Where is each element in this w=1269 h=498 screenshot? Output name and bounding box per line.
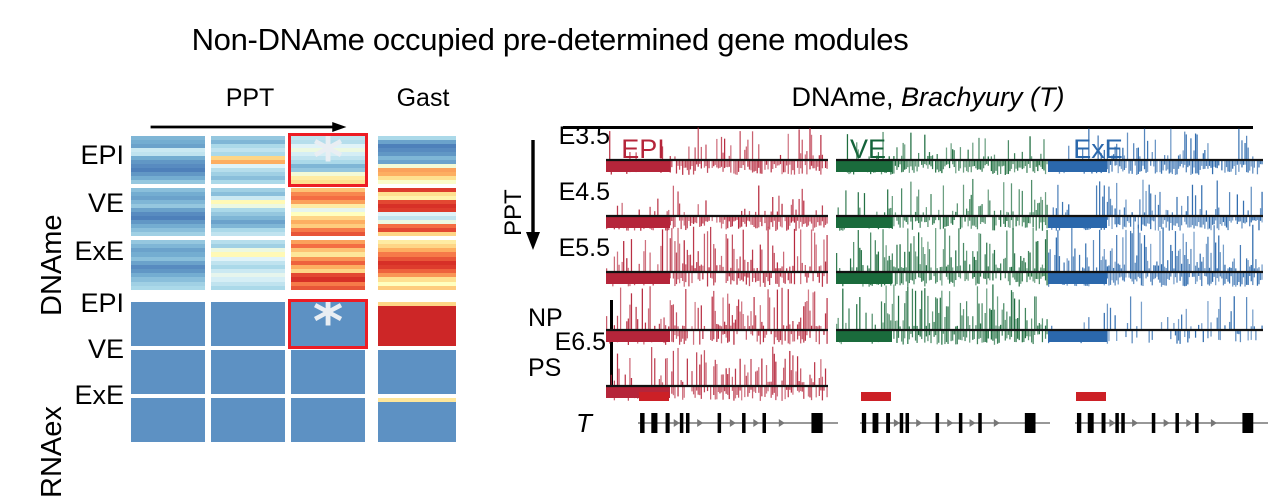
right-panel-title: DNAme, Brachyury (T) xyxy=(598,82,1258,113)
heatmap-cell xyxy=(131,188,205,236)
right-panel-title-plain: DNAme, xyxy=(791,82,901,112)
genome-track xyxy=(836,186,1048,234)
genome-track xyxy=(1048,130,1263,178)
genome-track xyxy=(1048,186,1263,234)
heatmap-row xyxy=(378,390,456,394)
heatmap-cell xyxy=(211,302,285,346)
heatmap-cell xyxy=(131,136,205,184)
heatmap-row xyxy=(378,438,456,442)
heatmap-row xyxy=(211,342,285,346)
heatmap-cell xyxy=(378,188,456,236)
heatmap-row xyxy=(291,286,365,290)
heatmap-row xyxy=(378,286,456,290)
right-panel-title-gene: Brachyury (T) xyxy=(901,82,1065,112)
heatmap-cell xyxy=(131,398,205,442)
heatmap-row xyxy=(291,342,365,346)
dmr-bar xyxy=(861,392,891,401)
heatmap-cell xyxy=(211,188,285,236)
heatmap-row xyxy=(211,286,285,290)
stage-label-ps: PS xyxy=(518,354,620,383)
genome-track xyxy=(606,186,828,234)
track-signal xyxy=(606,186,828,234)
row-label-dname-exe: ExE xyxy=(62,236,124,267)
dmr-bar xyxy=(1076,392,1106,401)
genome-track xyxy=(606,130,828,178)
heatmap-cell: * xyxy=(291,136,365,184)
row-label-rnaex-epi: EPI xyxy=(62,288,124,319)
heatmap-row xyxy=(131,390,205,394)
heatmap-cell xyxy=(131,350,205,394)
column-header-ppt: PPT xyxy=(130,84,370,113)
heatmap-row xyxy=(131,342,205,346)
heatmap-cell xyxy=(291,188,365,236)
track-signal xyxy=(1048,242,1263,290)
track-signal xyxy=(606,130,828,178)
heatmap-row xyxy=(211,390,285,394)
heatmap-panel: PPT Gast DNAme RNAex EPI VE ExE EPI VE E… xyxy=(0,78,480,438)
genome-track xyxy=(836,242,1048,290)
heatmap-row xyxy=(211,180,285,184)
heatmap-cell xyxy=(291,240,365,290)
heatmap-cell xyxy=(378,398,456,442)
gene-exon-intron-icon xyxy=(858,410,1052,436)
track-signal xyxy=(836,300,1048,348)
track-signal xyxy=(606,300,828,348)
heatmap-row xyxy=(131,438,205,442)
genome-track xyxy=(836,130,1048,178)
page-title: Non-DNAme occupied pre-determined gene m… xyxy=(0,22,1100,58)
heatmap-row xyxy=(378,232,456,236)
genome-track xyxy=(1048,242,1263,290)
heatmap-row xyxy=(211,232,285,236)
gene-name-label: T xyxy=(576,408,592,439)
track-signal xyxy=(836,186,1048,234)
row-label-rnaex-exe: ExE xyxy=(62,380,124,411)
heatmap-cell xyxy=(211,136,285,184)
heatmap-row xyxy=(291,438,365,442)
stage-label-e45: E4.5 xyxy=(518,178,610,207)
heatmap-row xyxy=(378,180,456,184)
heatmap-row xyxy=(291,390,365,394)
track-signal xyxy=(1048,300,1263,348)
heatmap-cell xyxy=(211,398,285,442)
track-signal xyxy=(836,130,1048,178)
heatmap-row xyxy=(211,438,285,442)
heatmap-cell xyxy=(378,240,456,290)
heatmap-cell xyxy=(291,398,365,442)
heatmap-cell: * xyxy=(291,302,365,346)
stage-group-label-e65: E6.5 xyxy=(426,328,606,357)
heatmap-row xyxy=(291,232,365,236)
row-label-rnaex-ve: VE xyxy=(62,334,124,365)
column-header-gast: Gast xyxy=(378,84,468,113)
stage-label-e55: E5.5 xyxy=(518,234,610,263)
title-divider xyxy=(563,126,1253,129)
heatmap-row xyxy=(131,232,205,236)
group-label-rnaex: RNAex xyxy=(36,406,69,498)
heatmap-cell xyxy=(131,240,205,290)
heatmap-row xyxy=(131,180,205,184)
heatmap-row xyxy=(131,286,205,290)
track-signal xyxy=(1048,186,1263,234)
genome-track xyxy=(1048,300,1263,348)
gene-exon-intron-icon xyxy=(1073,410,1269,436)
heatmap-cell xyxy=(211,240,285,290)
row-label-dname-epi: EPI xyxy=(62,140,124,171)
heatmap-cell xyxy=(131,302,205,346)
track-signal xyxy=(606,242,828,290)
heatmap-cell xyxy=(211,350,285,394)
genome-browser-panel: DNAme, Brachyury (T) EPI VE ExE PPT E3.5… xyxy=(488,78,1269,462)
stage-label-e35: E3.5 xyxy=(518,122,610,151)
genome-track xyxy=(606,300,828,348)
heatmap-cell xyxy=(378,136,456,184)
genome-track xyxy=(606,242,828,290)
genome-track xyxy=(836,300,1048,348)
track-signal xyxy=(1048,130,1263,178)
right-arrow-icon xyxy=(131,122,366,132)
gene-exon-intron-icon xyxy=(636,410,840,436)
row-label-dname-ve: VE xyxy=(62,188,124,219)
dmr-bar xyxy=(639,392,669,401)
heatmap-row xyxy=(291,180,365,184)
heatmap-cell xyxy=(291,350,365,394)
track-signal xyxy=(836,242,1048,290)
